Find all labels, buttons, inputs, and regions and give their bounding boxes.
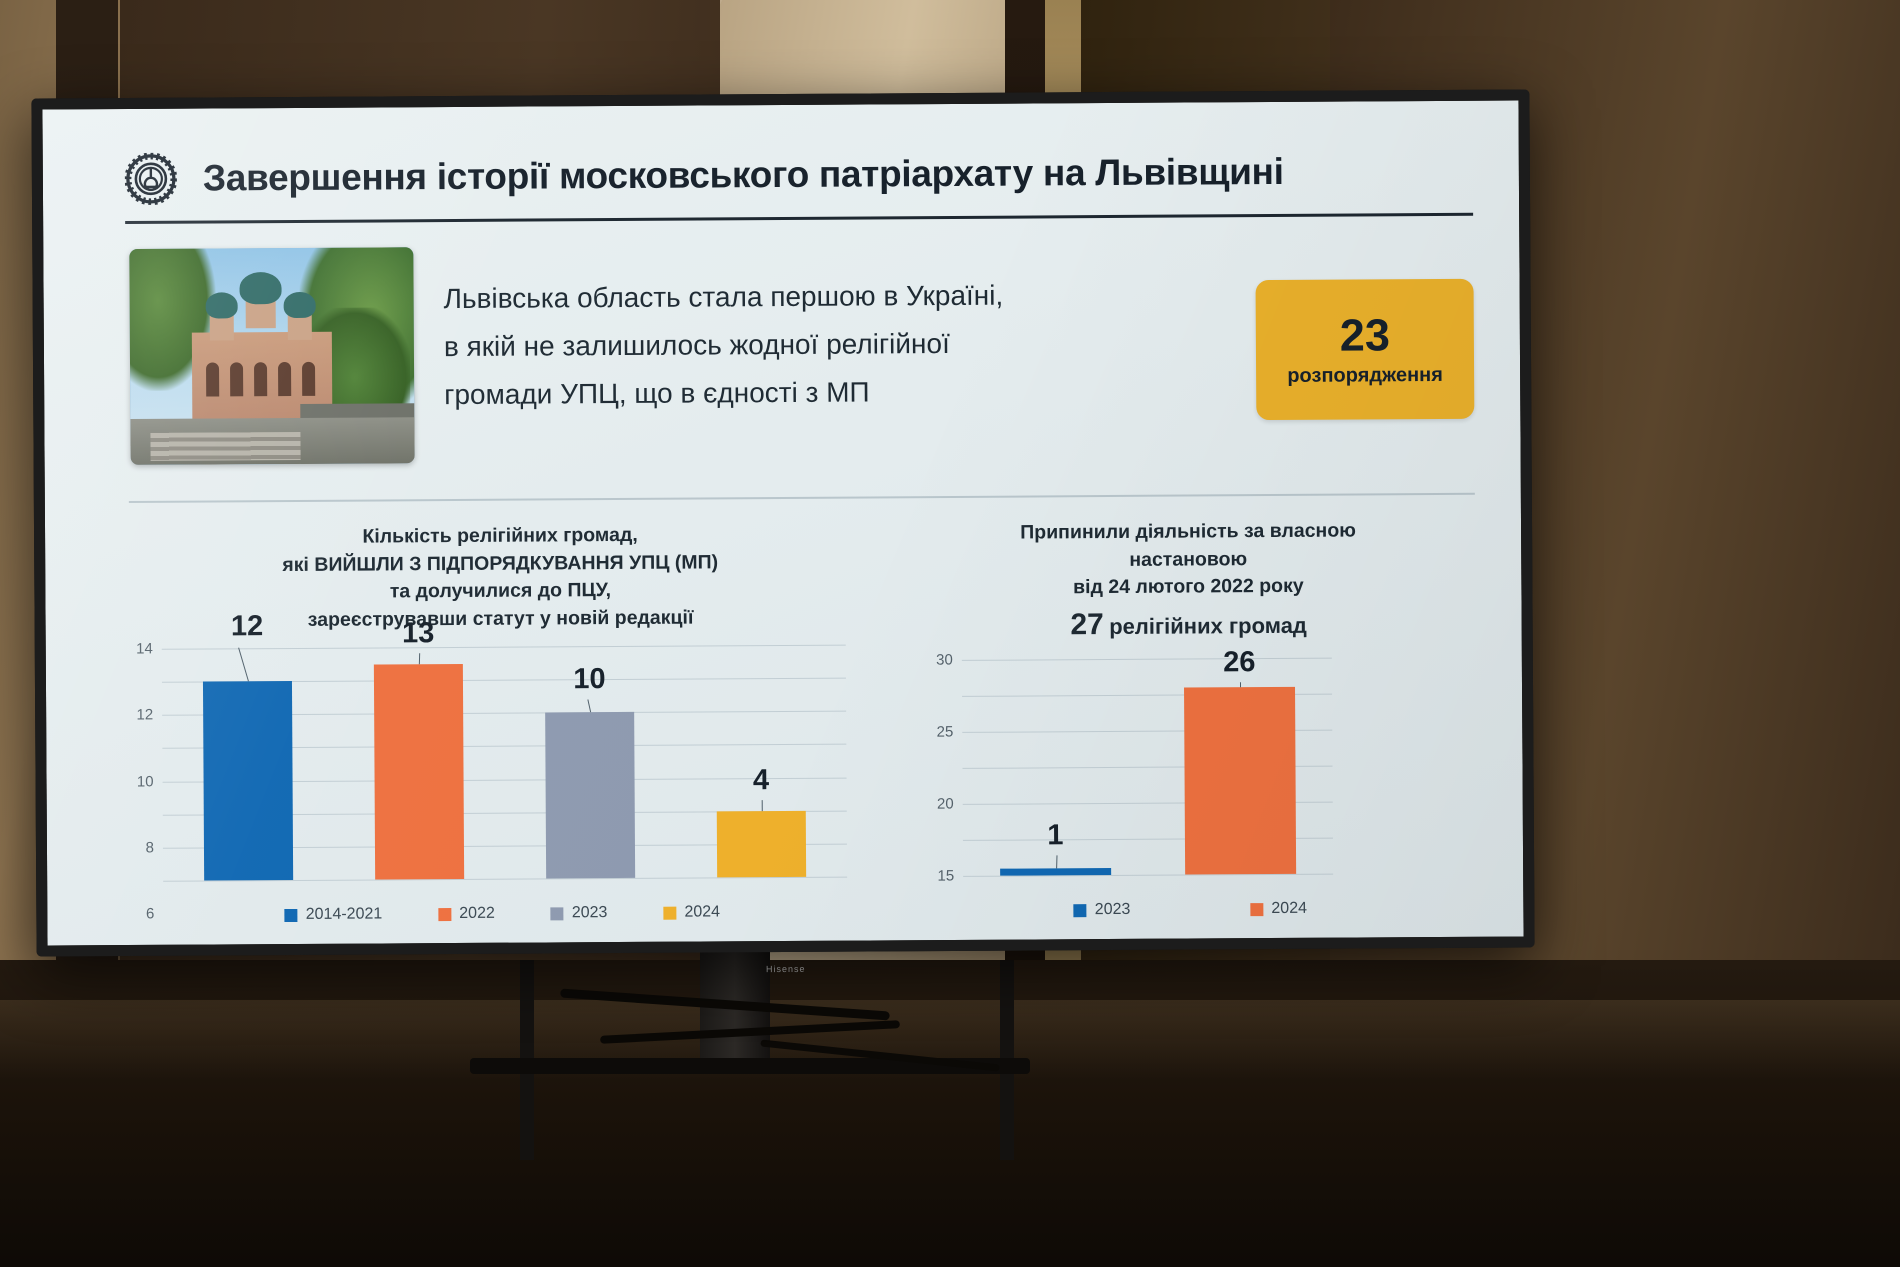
television-display: Завершення історії московського патріарх…: [31, 89, 1534, 956]
tv-bezel: [31, 89, 1534, 956]
tv-brand-label: Hisense: [766, 964, 806, 974]
